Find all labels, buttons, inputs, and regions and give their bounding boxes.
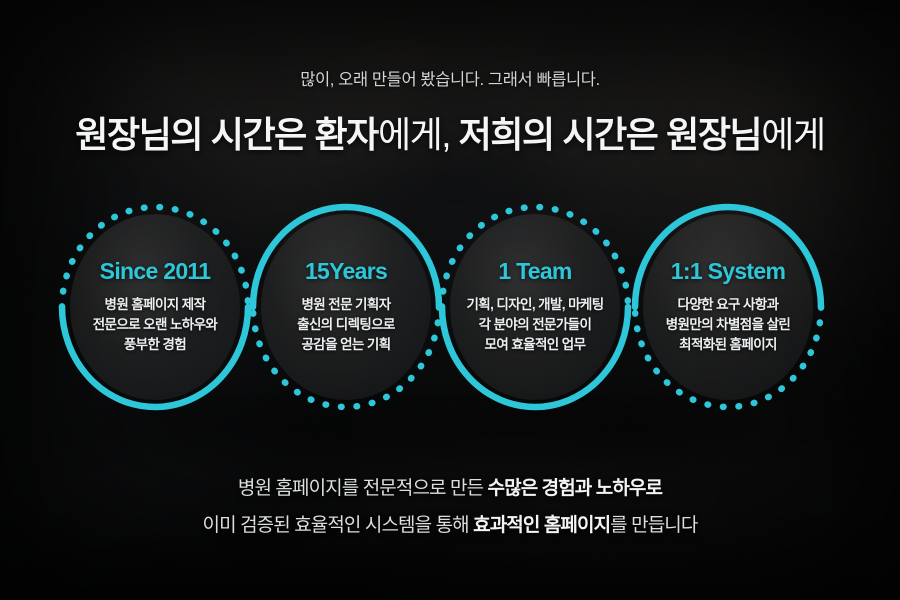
ring-description-line: 기획, 디자인, 개발, 마케팅 [466, 295, 603, 315]
ring-description-line: 출신의 디렉팅으로 [297, 315, 395, 335]
ring-title: 15Years [305, 260, 387, 283]
ring-description-line: 병원 전문 기획자 [297, 295, 395, 315]
ring-text-block: 1:1 System 다양한 요구 사항과 병원만의 차별점을 살린 최적화된 … [625, 200, 831, 415]
footer-line2-part-a: 이미 검증된 효율적인 시스템을 통해 [203, 515, 474, 536]
ring-description-line: 모여 효율적인 업무 [466, 335, 603, 355]
ring-title: Since 2011 [100, 260, 211, 283]
ring-text-block: Since 2011 병원 홈페이지 제작 전문으로 오랜 노하우와 풍부한 경… [52, 200, 258, 415]
hero-footer-copy: 병원 홈페이지를 전문적으로 만든 수많은 경험과 노하우로 이미 검증된 효율… [0, 470, 900, 544]
ring-description-line: 다양한 요구 사항과 [666, 295, 791, 315]
ring-description-line: 전문으로 오랜 노하우와 [93, 315, 218, 335]
hero-banner: 많이, 오래 만들어 봤습니다. 그래서 빠릅니다. 원장님의 시간은 환자에게… [0, 0, 900, 600]
ring-description-line: 풍부한 경험 [93, 335, 218, 355]
ring-text-block: 15Years 병원 전문 기획자 출신의 디렉팅으로 공감을 얻는 기획 [243, 200, 449, 415]
ring-description-line: 최적화된 홈페이지 [666, 335, 791, 355]
hero-eyebrow: 많이, 오래 만들어 봤습니다. 그래서 빠릅니다. [0, 66, 900, 90]
hero-headline: 원장님의 시간은 환자에게, 저희의 시간은 원장님에게 [0, 106, 900, 158]
ring-description: 다양한 요구 사항과 병원만의 차별점을 살린 최적화된 홈페이지 [666, 295, 791, 354]
footer-copy-line-2: 이미 검증된 효율적인 시스템을 통해 효과적인 홈페이지를 만듭니다 [0, 507, 900, 544]
ring-description: 병원 전문 기획자 출신의 디렉팅으로 공감을 얻는 기획 [297, 295, 395, 354]
feature-ring-since-2011[interactable]: Since 2011 병원 홈페이지 제작 전문으로 오랜 노하우와 풍부한 경… [52, 200, 258, 415]
feature-ring-1-1-system[interactable]: 1:1 System 다양한 요구 사항과 병원만의 차별점을 살린 최적화된 … [625, 200, 831, 415]
footer-line1-part-b: 수많은 경험과 노하우로 [488, 478, 663, 499]
ring-description-line: 공감을 얻는 기획 [297, 335, 395, 355]
feature-ring-row: Since 2011 병원 홈페이지 제작 전문으로 오랜 노하우와 풍부한 경… [0, 200, 900, 415]
footer-copy-line-1: 병원 홈페이지를 전문적으로 만든 수많은 경험과 노하우로 [0, 470, 900, 507]
ring-description: 기획, 디자인, 개발, 마케팅 각 분야의 전문가들이 모여 효율적인 업무 [466, 295, 603, 354]
footer-line2-part-c: 를 만듭니다 [610, 515, 697, 536]
headline-part-4: 에게 [761, 114, 824, 155]
headline-part-3: 저희의 시간은 원장님 [459, 114, 762, 155]
ring-title: 1 Team [498, 260, 571, 283]
headline-part-2: 에게, [378, 114, 459, 155]
feature-ring-15-years[interactable]: 15Years 병원 전문 기획자 출신의 디렉팅으로 공감을 얻는 기획 [243, 200, 449, 415]
ring-description-line: 병원만의 차별점을 살린 [666, 315, 791, 335]
footer-line1-part-a: 병원 홈페이지를 전문적으로 만든 [238, 478, 488, 499]
ring-description-line: 각 분야의 전문가들이 [466, 315, 603, 335]
footer-line2-part-b: 효과적인 홈페이지 [473, 515, 610, 536]
ring-description: 병원 홈페이지 제작 전문으로 오랜 노하우와 풍부한 경험 [93, 295, 218, 354]
ring-title: 1:1 System [671, 260, 785, 283]
ring-description-line: 병원 홈페이지 제작 [93, 295, 218, 315]
feature-ring-1-team[interactable]: 1 Team 기획, 디자인, 개발, 마케팅 각 분야의 전문가들이 모여 효… [432, 200, 638, 415]
ring-text-block: 1 Team 기획, 디자인, 개발, 마케팅 각 분야의 전문가들이 모여 효… [432, 200, 638, 415]
headline-part-1: 원장님의 시간은 환자 [75, 114, 378, 155]
